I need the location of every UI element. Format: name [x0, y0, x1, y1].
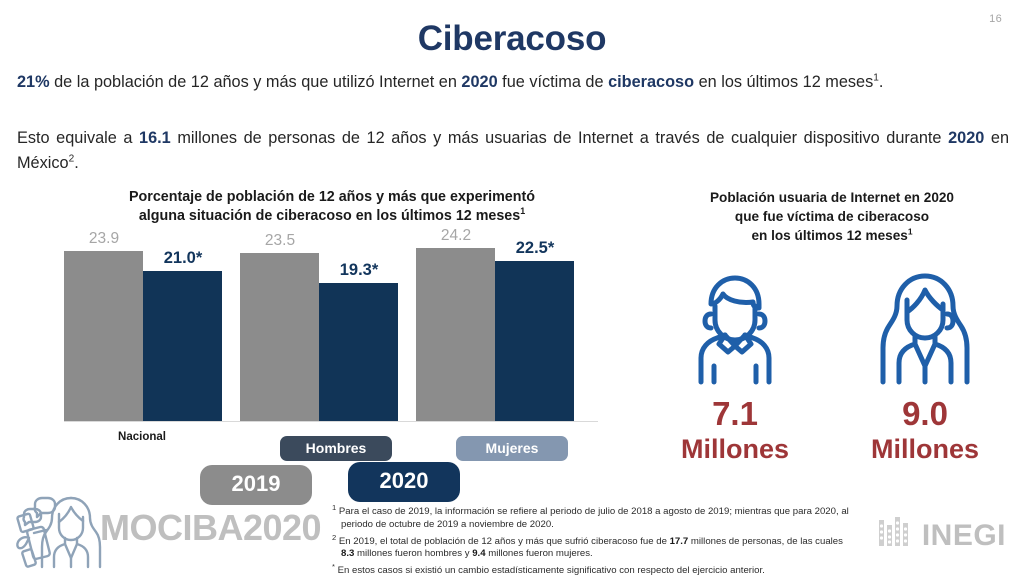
- highlighted-term: 2020: [461, 73, 497, 91]
- intro-paragraph-1: 21% de la población de 12 años y más que…: [17, 70, 1009, 95]
- inegi-wordmark: INEGI: [922, 519, 1006, 553]
- people-stats-panel: Población usuaria de Internet en 2020 qu…: [640, 188, 1024, 488]
- page-title: Ciberacoso: [0, 19, 1024, 59]
- text-run: .: [879, 73, 884, 91]
- chart-plot-area: 23.921.0*23.519.3*24.222.5*: [62, 232, 602, 422]
- bar-group: 24.222.5*: [416, 232, 574, 421]
- chart-baseline-axis: [64, 421, 598, 422]
- bar-2019-mujeres[interactable]: [416, 248, 495, 421]
- bar-group: 23.921.0*: [64, 232, 222, 421]
- legend-item-2020[interactable]: 2020: [348, 462, 460, 502]
- footnote-highlight: 8.3: [341, 548, 354, 559]
- text-run: de la población de 12 años y más que uti…: [50, 73, 462, 91]
- text-run: Esto equivale a: [17, 129, 139, 147]
- inegi-mark-icon: [878, 516, 916, 555]
- bar-value-label: 19.3*: [314, 261, 404, 280]
- mociba-person-icon: [14, 557, 104, 574]
- bar-value-label: 23.9: [59, 230, 149, 248]
- bar-chart-panel: Porcentaje de población de 12 años y más…: [62, 188, 602, 488]
- people-title-line-1: Población usuaria de Internet en 2020: [710, 190, 954, 205]
- bar-2019-hombres[interactable]: [240, 253, 319, 421]
- female-person-icon: [840, 270, 1010, 393]
- highlighted-term: 2020: [948, 129, 984, 147]
- footnote-item: 2 En 2019, el total de población de 12 a…: [332, 532, 852, 561]
- inegi-logo: INEGI: [878, 516, 1006, 555]
- bar-2020-mujeres[interactable]: [495, 261, 574, 421]
- category-label-nacional: Nacional: [82, 431, 202, 443]
- stat-unit-male: Millones: [650, 433, 820, 465]
- text-run: fue víctima de: [498, 73, 608, 91]
- stat-number-male: 7.1: [650, 395, 820, 433]
- stat-number-female: 9.0: [840, 395, 1010, 433]
- chart-title: Porcentaje de población de 12 años y más…: [62, 188, 602, 226]
- footnote-highlight: 17.7: [670, 536, 689, 547]
- chart-title-line-2: alguna situación de ciberacoso en los úl…: [139, 208, 520, 224]
- text-run: .: [74, 154, 79, 172]
- highlighted-term: 21%: [17, 73, 50, 91]
- footnote-item: 1 Para el caso de 2019, la información s…: [332, 502, 852, 531]
- stat-block-male: 7.1 Millones: [650, 270, 820, 465]
- highlighted-term: ciberacoso: [608, 73, 694, 91]
- footnote-highlight: 9.4: [472, 548, 485, 559]
- bar-2019-nacional[interactable]: [64, 251, 143, 421]
- text-run: en los últimos 12 meses: [694, 73, 873, 91]
- chart-title-footnote-marker: 1: [520, 206, 525, 216]
- bar-2020-hombres[interactable]: [319, 283, 398, 421]
- stat-unit-female: Millones: [840, 433, 1010, 465]
- chart-title-line-1: Porcentaje de población de 12 años y más…: [129, 189, 535, 205]
- bar-value-label: 21.0*: [138, 249, 228, 268]
- category-pill-hombres: Hombres: [280, 436, 392, 461]
- slide-canvas: 16 Ciberacoso 21% de la población de 12 …: [0, 0, 1024, 576]
- highlighted-term: 16.1: [139, 129, 171, 147]
- intro-paragraph-2: Esto equivale a 16.1 millones de persona…: [17, 126, 1009, 176]
- category-pill-mujeres: Mujeres: [456, 436, 568, 461]
- stat-block-female: 9.0 Millones: [840, 270, 1010, 465]
- text-run: millones de personas de 12 años y más us…: [171, 129, 948, 147]
- mociba-wordmark: MOCIBA2020: [100, 507, 321, 549]
- bar-value-label: 22.5*: [490, 239, 580, 258]
- male-person-icon: [650, 270, 820, 393]
- people-title-line-3: en los últimos 12 meses: [751, 228, 907, 243]
- people-title-line-2: que fue víctima de ciberacoso: [735, 209, 929, 224]
- bar-group: 23.519.3*: [240, 232, 398, 421]
- people-title-footnote-marker: 1: [908, 226, 913, 236]
- footnote-item: * En estos casos si existió un cambio es…: [332, 561, 852, 578]
- bar-2020-nacional[interactable]: [143, 271, 222, 421]
- bar-value-label: 24.2: [411, 227, 501, 245]
- bar-value-label: 23.5: [235, 232, 325, 250]
- people-panel-title: Población usuaria de Internet en 2020 qu…: [640, 188, 1024, 245]
- footnotes-block: 1 Para el caso de 2019, la información s…: [332, 502, 852, 578]
